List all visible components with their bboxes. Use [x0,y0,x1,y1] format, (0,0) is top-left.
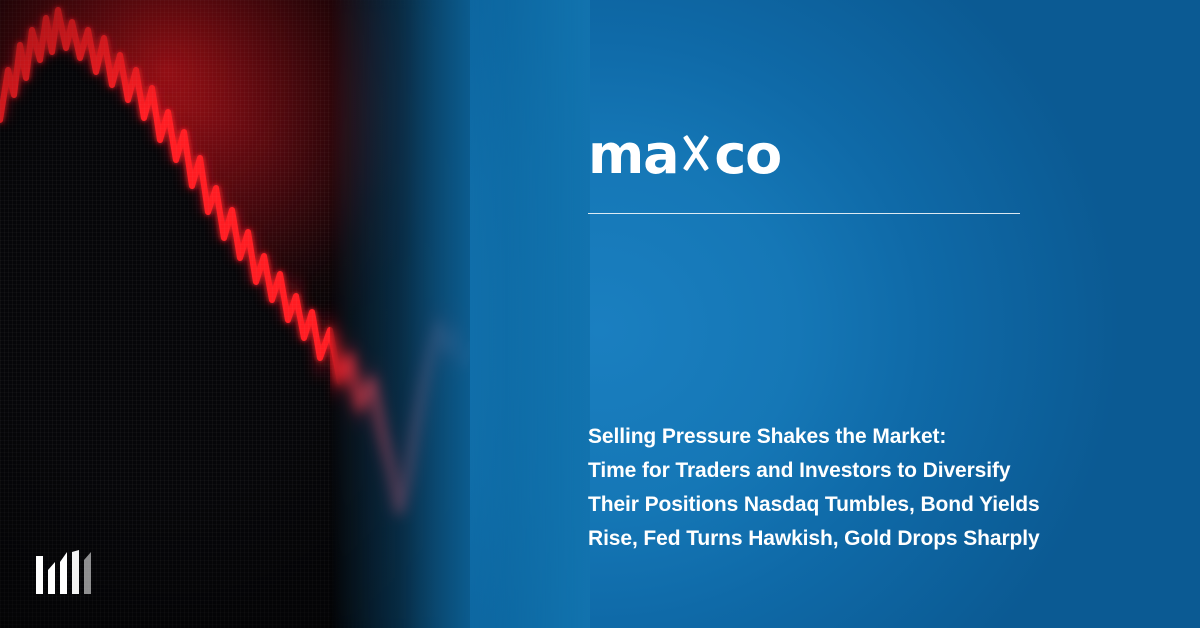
headline: Selling Pressure Shakes the Market: Time… [588,420,1188,556]
photo-edge-blur [330,0,470,628]
brand-x-icon [679,133,713,173]
brand-name-part1: ma [588,128,678,182]
headline-line-2: Time for Traders and Investors to Divers… [588,454,1188,488]
headline-line-3: Their Positions Nasdaq Tumbles, Bond Yie… [588,488,1188,522]
promo-banner: maco Selling Pressure Shakes the Market:… [0,0,1200,628]
brand-logo: maco [588,128,781,182]
divider-rule [588,213,1020,214]
brand-name-part2: co [714,128,781,182]
headline-line-1: Selling Pressure Shakes the Market: [588,420,1188,454]
maxco-m-logomark-icon [36,550,96,594]
brand-wordmark: maco [588,128,781,182]
headline-line-4: Rise, Fed Turns Hawkish, Gold Drops Shar… [588,522,1188,556]
market-chart-photo [0,0,470,628]
